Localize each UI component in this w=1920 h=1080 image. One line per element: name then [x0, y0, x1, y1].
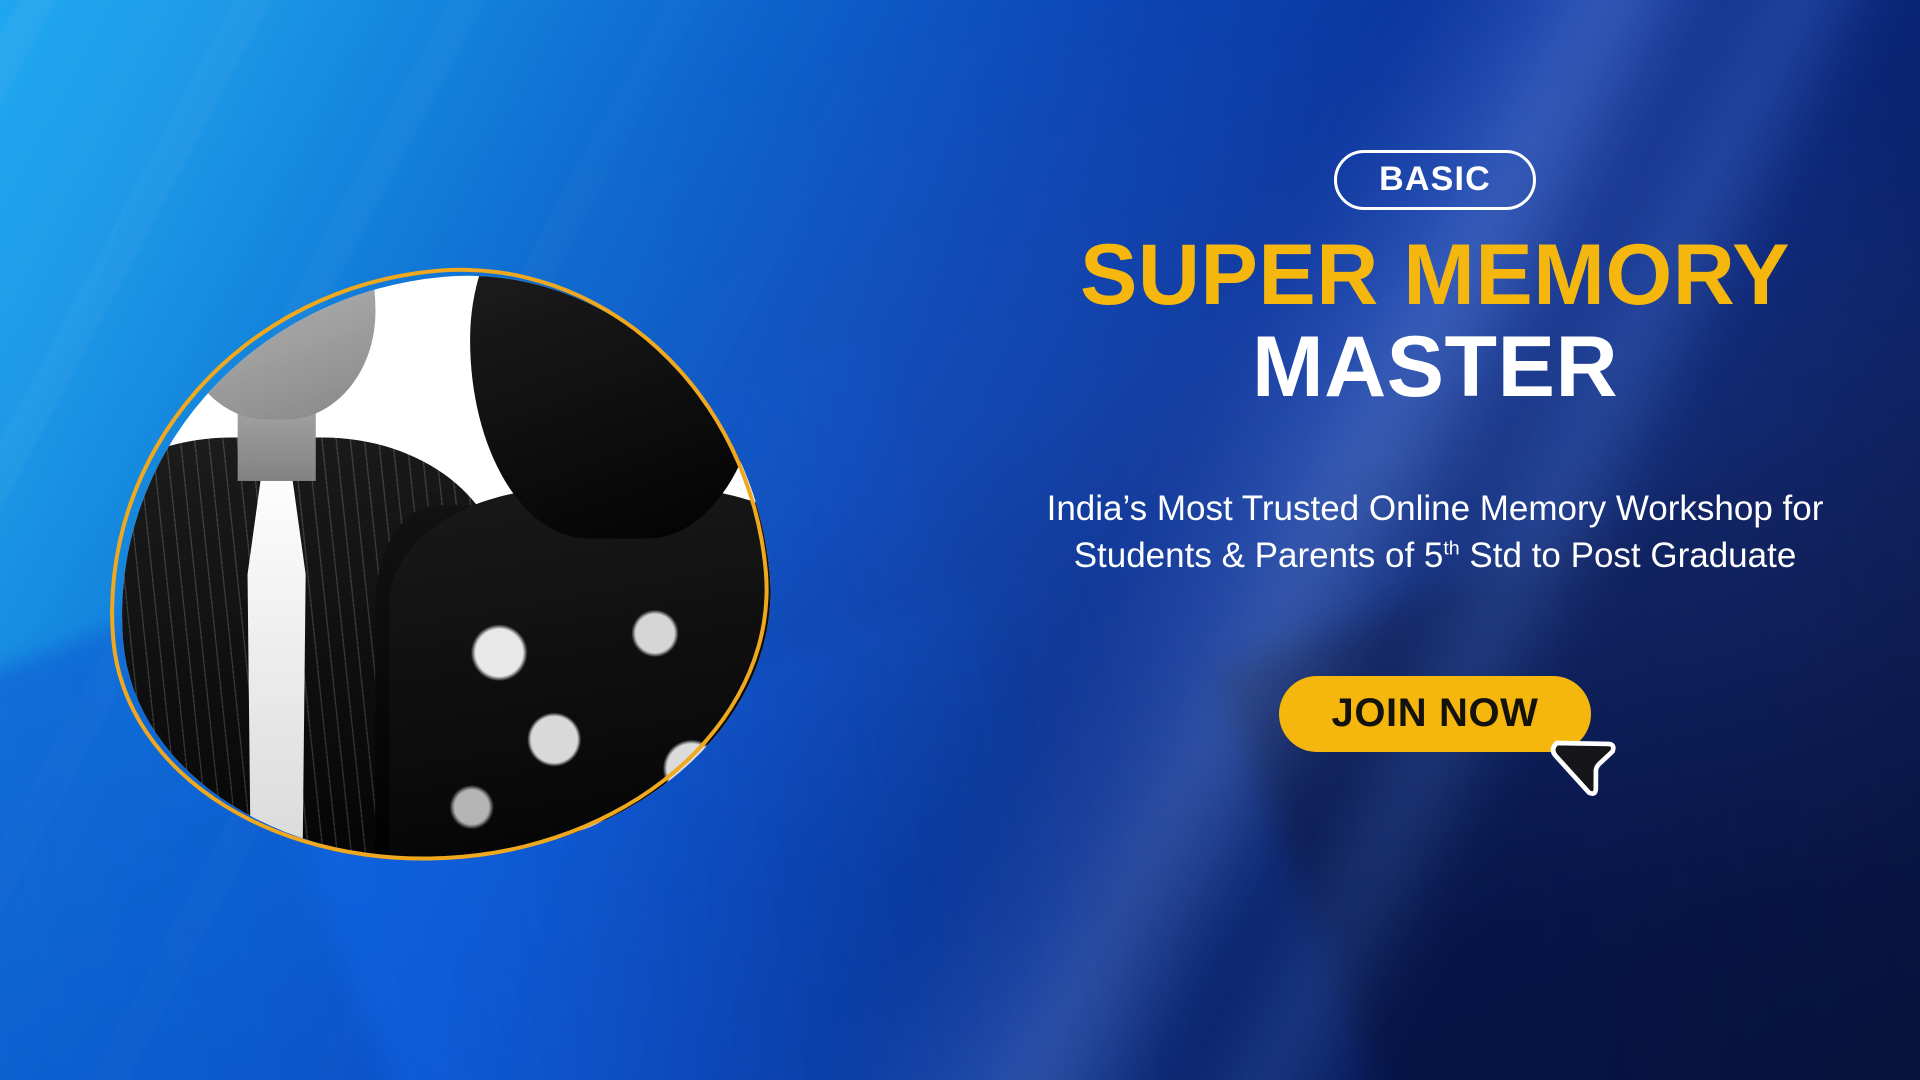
headline-primary: SUPER MEMORY: [1080, 232, 1790, 320]
headline-secondary: MASTER: [1252, 322, 1618, 412]
cursor-arrow-icon: [1547, 720, 1625, 798]
subtitle-ordinal-suffix: th: [1443, 537, 1459, 559]
content-column: BASIC SUPER MEMORY MASTER India’s Most T…: [1000, 150, 1870, 752]
promo-banner: BASIC SUPER MEMORY MASTER India’s Most T…: [0, 0, 1920, 1080]
join-now-button[interactable]: JOIN NOW: [1279, 676, 1590, 752]
level-badge: BASIC: [1334, 150, 1536, 210]
subtitle-part-2: Std to Post Graduate: [1460, 536, 1797, 575]
subtitle-text: India’s Most Trusted Online Memory Works…: [1025, 486, 1845, 580]
presenter-photo-blob: [96, 212, 796, 852]
cta-row: JOIN NOW: [1279, 676, 1590, 752]
